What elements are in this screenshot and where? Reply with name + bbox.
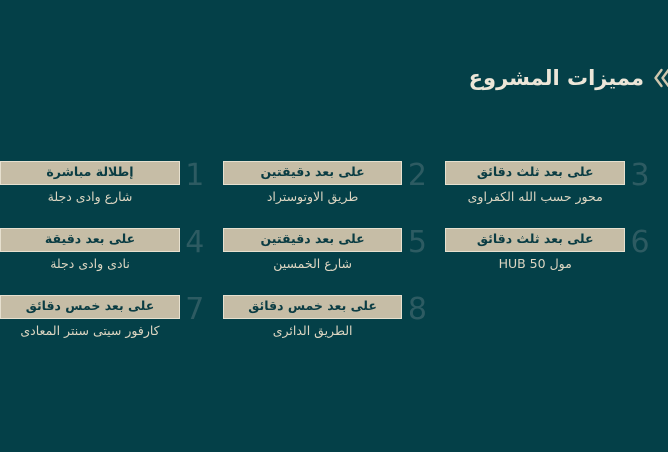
feature-badge: إطلالة مباشرة: [0, 161, 180, 185]
features-grid: 3 على بعد ثلث دقائق محور حسب الله الكفرا…: [0, 155, 668, 343]
page-title: مميزات المشروع: [469, 68, 644, 89]
feature-row: 3 على بعد ثلث دقائق محور حسب الله الكفرا…: [0, 155, 668, 209]
feature-item-5[interactable]: 5 على بعد دقيقتين شارع الخمسين: [223, 222, 446, 276]
slide-root: مميزات المشروع 3 على بعد ثلث دقائق محور …: [0, 0, 668, 452]
page-header: مميزات المشروع: [0, 58, 668, 98]
feature-body: على بعد دقيقتين شارع الخمسين: [223, 222, 403, 270]
feature-label: مول HUB 50: [445, 257, 625, 271]
feature-item-7[interactable]: 7 على بعد خمس دقائق كارفور سيتى سنتر الم…: [0, 289, 223, 343]
feature-item-8[interactable]: 8 على بعد خمس دقائق الطريق الدائرى: [223, 289, 446, 343]
feature-number: 1: [180, 155, 210, 197]
feature-item-4[interactable]: 4 على بعد دقيقة نادى وادى دجلة: [0, 222, 223, 276]
feature-number: 5: [402, 222, 432, 264]
feature-body: على بعد دقيقتين طريق الاوتوستراد: [223, 155, 403, 203]
feature-badge: على بعد دقيقتين: [223, 228, 403, 252]
feature-item-2[interactable]: 2 على بعد دقيقتين طريق الاوتوستراد: [223, 155, 446, 209]
feature-label: الطريق الدائرى: [223, 324, 403, 338]
feature-number: 2: [402, 155, 432, 197]
feature-label: طريق الاوتوستراد: [223, 190, 403, 204]
double-chevron-left-icon: [652, 64, 668, 92]
feature-body: على بعد خمس دقائق كارفور سيتى سنتر المعا…: [0, 289, 180, 337]
feature-number: 3: [625, 155, 655, 197]
feature-badge: على بعد دقيقة: [0, 228, 180, 252]
feature-label: شارع وادى دجلة: [0, 190, 180, 204]
feature-item-1[interactable]: 1 إطلالة مباشرة شارع وادى دجلة: [0, 155, 223, 209]
feature-badge: على بعد دقيقتين: [223, 161, 403, 185]
feature-body: إطلالة مباشرة شارع وادى دجلة: [0, 155, 180, 203]
feature-item-6[interactable]: 6 على بعد ثلث دقائق مول HUB 50: [445, 222, 668, 276]
feature-row: 6 على بعد ثلث دقائق مول HUB 50 5 على بعد…: [0, 222, 668, 276]
feature-label: نادى وادى دجلة: [0, 257, 180, 271]
feature-body: على بعد دقيقة نادى وادى دجلة: [0, 222, 180, 270]
feature-badge: على بعد خمس دقائق: [223, 295, 403, 319]
feature-item-3[interactable]: 3 على بعد ثلث دقائق محور حسب الله الكفرا…: [445, 155, 668, 209]
feature-number: 7: [180, 289, 210, 331]
feature-label: شارع الخمسين: [223, 257, 403, 271]
feature-label: كارفور سيتى سنتر المعادى: [0, 324, 180, 338]
feature-number: 6: [625, 222, 655, 264]
feature-label: محور حسب الله الكفراوى: [445, 190, 625, 204]
feature-badge: على بعد ثلث دقائق: [445, 161, 625, 185]
feature-number: 4: [180, 222, 210, 264]
feature-number: 8: [402, 289, 432, 331]
feature-row: 8 على بعد خمس دقائق الطريق الدائرى 7 على…: [0, 289, 668, 343]
feature-body: على بعد ثلث دقائق مول HUB 50: [445, 222, 625, 270]
feature-badge: على بعد خمس دقائق: [0, 295, 180, 319]
feature-badge: على بعد ثلث دقائق: [445, 228, 625, 252]
feature-body: على بعد ثلث دقائق محور حسب الله الكفراوى: [445, 155, 625, 203]
feature-body: على بعد خمس دقائق الطريق الدائرى: [223, 289, 403, 337]
